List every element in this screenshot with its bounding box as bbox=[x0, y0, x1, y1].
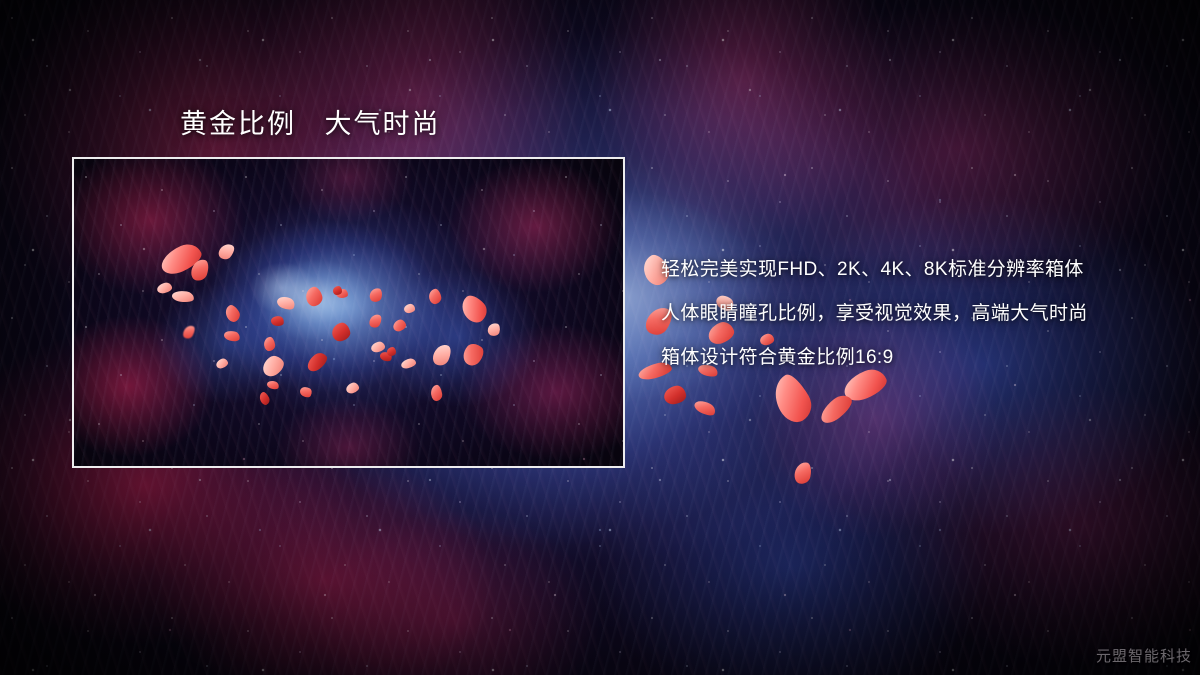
framed-image-panel bbox=[72, 157, 625, 468]
presentation-slide: 黄金比例 大气时尚 轻松完美实现FHD、2K、4K、8K标准分辨率箱体 人体眼睛… bbox=[0, 0, 1200, 675]
description-line: 人体眼睛瞳孔比例，享受视觉效果，高端大气时尚 bbox=[661, 292, 1161, 336]
framed-starfield-bright bbox=[74, 159, 623, 466]
description-line: 轻松完美实现FHD、2K、4K、8K标准分辨率箱体 bbox=[661, 248, 1161, 292]
company-watermark: 元盟智能科技 bbox=[1096, 645, 1192, 666]
petal bbox=[387, 347, 396, 356]
description-block: 轻松完美实现FHD、2K、4K、8K标准分辨率箱体 人体眼睛瞳孔比例，享受视觉效… bbox=[661, 248, 1161, 380]
page-title: 黄金比例 大气时尚 bbox=[180, 102, 441, 141]
petal bbox=[333, 286, 342, 295]
description-line: 箱体设计符合黄金比例16:9 bbox=[661, 336, 1161, 380]
framed-image-content bbox=[74, 159, 623, 466]
